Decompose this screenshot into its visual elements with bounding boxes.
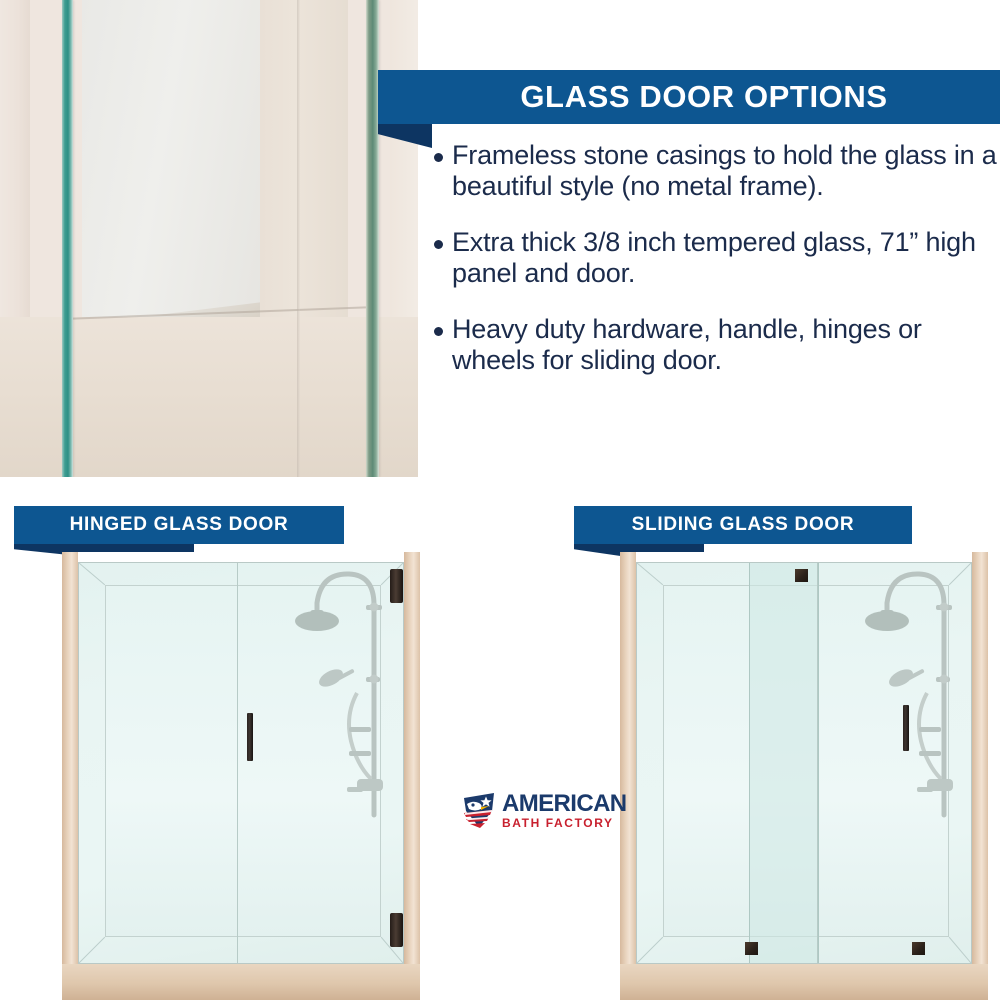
- door-hinge-bottom: [390, 913, 403, 947]
- door-panel-divider: [817, 563, 818, 963]
- door-handle[interactable]: [247, 713, 253, 761]
- hinged-door-image: [62, 552, 420, 1000]
- bullet-dot-icon: [434, 153, 443, 162]
- poster-root: GLASS DOOR OPTIONS Frameless stone casin…: [0, 0, 1000, 1000]
- door-panel-divider: [237, 563, 238, 963]
- brand-name-secondary: BATH FACTORY: [502, 817, 627, 830]
- list-item: Extra thick 3/8 inch tempered glass, 71”…: [434, 227, 1000, 289]
- glass-enclosure: [636, 562, 972, 964]
- glass-edge-near-icon: [62, 0, 73, 477]
- brand-name-primary: AMERICAN: [502, 793, 627, 815]
- door-hinge-top: [390, 569, 403, 603]
- stone-casing-left: [62, 552, 78, 1000]
- stone-casing-right: [404, 552, 420, 1000]
- header-banner: GLASS DOOR OPTIONS: [378, 70, 1000, 124]
- page-title: GLASS DOOR OPTIONS: [490, 79, 887, 115]
- brand-wordmark: AMERICAN BATH FACTORY: [502, 793, 627, 830]
- stone-casing-base: [62, 964, 420, 1000]
- slider-clip-top: [795, 569, 808, 582]
- stone-casing-base: [620, 964, 988, 1000]
- glass-enclosure: [78, 562, 404, 964]
- list-item-label: Frameless stone casings to hold the glas…: [452, 140, 1000, 202]
- glass-edge-photo: [0, 0, 418, 477]
- list-item-label: Extra thick 3/8 inch tempered glass, 71”…: [452, 227, 1000, 289]
- slider-clip-bottom-right: [912, 942, 925, 955]
- section-label-sliding-text: SLIDING GLASS DOOR: [632, 514, 855, 536]
- bullet-dot-icon: [434, 240, 443, 249]
- photo-wall-seam: [297, 0, 300, 477]
- sliding-door-image: [620, 552, 988, 1000]
- list-item-label: Heavy duty hardware, handle, hinges or w…: [452, 314, 1000, 376]
- shower-fixture-icon: [841, 565, 961, 825]
- bullet-dot-icon: [434, 327, 443, 336]
- brand-logo: AMERICAN BATH FACTORY: [459, 789, 605, 833]
- feature-list: Frameless stone casings to hold the glas…: [434, 140, 1000, 401]
- section-label-hinged-text: HINGED GLASS DOOR: [70, 514, 289, 536]
- stone-casing-left: [620, 552, 636, 1000]
- list-item: Frameless stone casings to hold the glas…: [434, 140, 1000, 202]
- section-label-hinged: HINGED GLASS DOOR: [14, 506, 344, 544]
- slider-clip-bottom-left: [745, 942, 758, 955]
- sliding-panel[interactable]: [749, 563, 819, 963]
- list-item: Heavy duty hardware, handle, hinges or w…: [434, 314, 1000, 376]
- section-label-sliding: SLIDING GLASS DOOR: [574, 506, 912, 544]
- eagle-flag-shield-icon: [459, 791, 499, 831]
- shower-fixture-icon: [271, 565, 391, 825]
- stone-casing-right: [972, 552, 988, 1000]
